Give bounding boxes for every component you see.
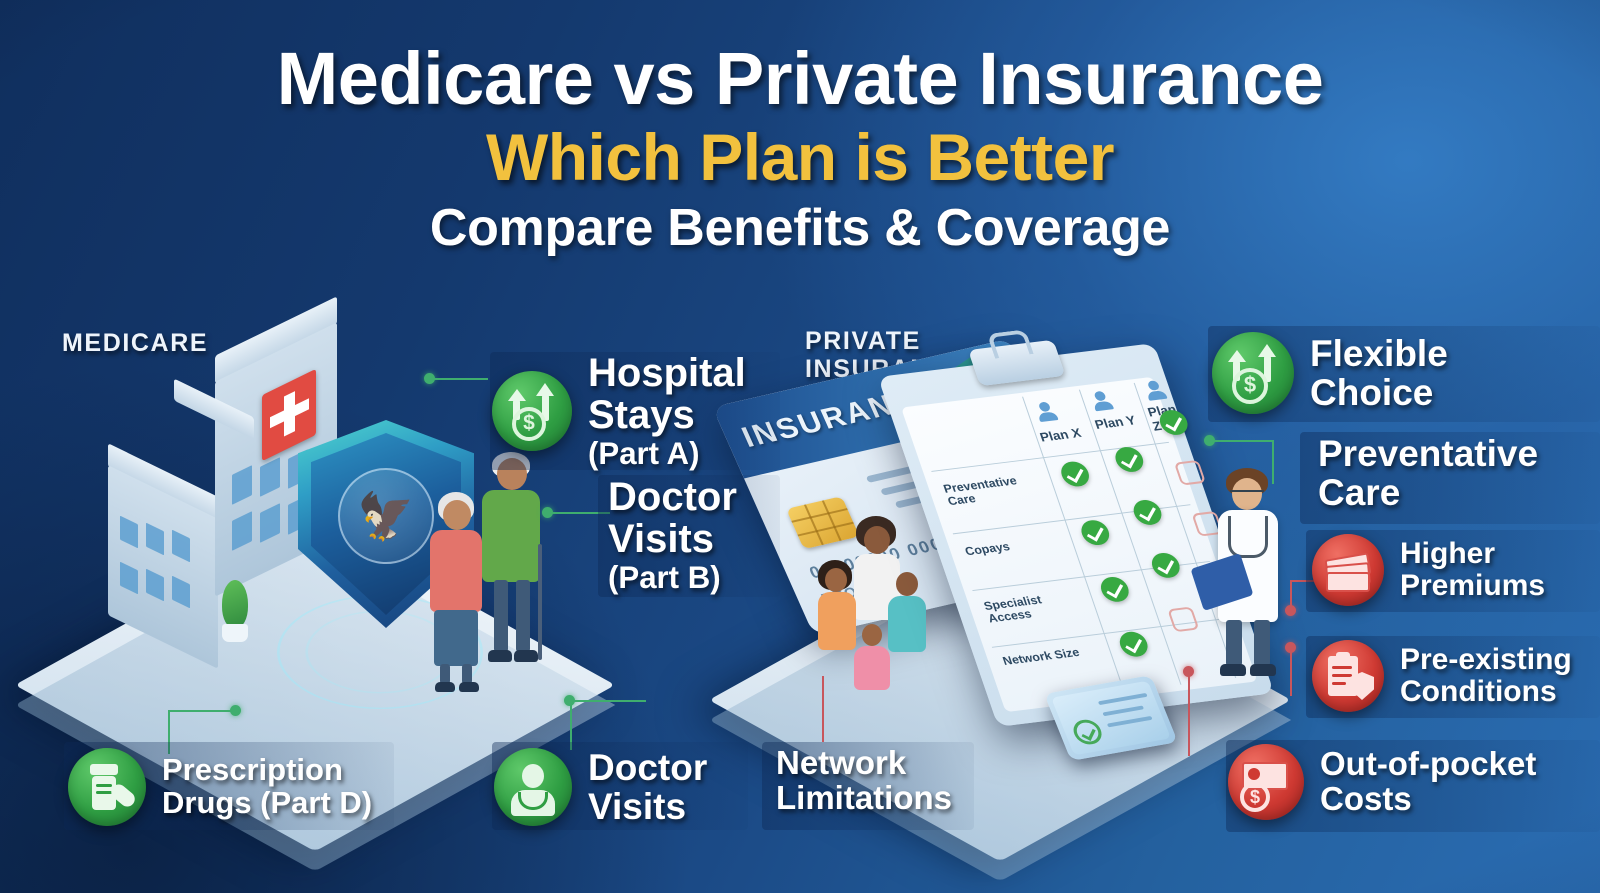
table-cell-mark xyxy=(1116,630,1151,658)
feature-out-of-pocket-costs[interactable]: $ Out-of-pocket Costs xyxy=(1228,744,1536,820)
feature-title2: Visits xyxy=(608,517,714,561)
feature-title: Out-of-pocket xyxy=(1320,745,1536,782)
table-cell-mark xyxy=(1167,607,1199,633)
table-row-label-3: Network Size xyxy=(1001,643,1107,667)
private-label-line1: PRIVATE xyxy=(805,328,968,356)
feature-title2: Choice xyxy=(1310,372,1433,413)
feature-title2: Conditions xyxy=(1400,675,1557,708)
doctor-figure xyxy=(1196,468,1316,678)
doctor-stethoscope-icon xyxy=(494,748,572,826)
feature-flexible-choice[interactable]: $ Flexible Choice xyxy=(1212,332,1448,414)
table-cell-mark xyxy=(1078,519,1113,547)
feature-title2: Drugs (Part D) xyxy=(162,785,372,820)
feature-title: Doctor xyxy=(608,475,737,519)
subtitle-accent: Which Plan is Better xyxy=(0,124,1600,190)
table-row-label-2: Specialist Access xyxy=(982,588,1092,624)
feature-prescription-drugs[interactable]: Prescription Drugs (Part D) xyxy=(68,748,372,826)
clipboard-shield-icon xyxy=(1312,640,1384,712)
feature-title: Pre-existing xyxy=(1400,643,1572,676)
table-cell-mark xyxy=(1112,446,1147,474)
feature-higher-premiums[interactable]: Higher Premiums xyxy=(1312,534,1545,606)
feature-doctor-visits[interactable]: Doctor Visits xyxy=(494,748,707,826)
banknote-dollar-icon: $ xyxy=(1228,744,1304,820)
feature-title2: Visits xyxy=(588,786,686,827)
feature-title2: Costs xyxy=(1320,780,1412,817)
feature-title: Doctor xyxy=(588,747,707,788)
plan-y-avatar-icon xyxy=(1088,390,1115,411)
main-title: Medicare vs Private Insurance xyxy=(0,42,1600,116)
plan-z-avatar-icon xyxy=(1142,380,1169,401)
table-cell-mark xyxy=(1058,460,1093,488)
feature-title: Prescription xyxy=(162,752,343,787)
feature-title: Higher xyxy=(1400,537,1495,570)
phone-check-icon xyxy=(1070,718,1106,747)
feature-title2: Care xyxy=(1318,472,1400,513)
table-header-plan-y: Plan Y xyxy=(1093,413,1138,432)
eagle-icon: 🦅 xyxy=(357,493,414,539)
dollar-up-arrows-icon: $ xyxy=(1212,332,1294,414)
stethoscope-icon xyxy=(1228,516,1268,558)
feature-sub: (Part B) xyxy=(608,561,737,594)
feature-title2: Stays xyxy=(588,393,695,437)
feature-network-limitations[interactable]: Network Limitations xyxy=(776,746,952,816)
table-row-label-1: Copays xyxy=(963,533,1069,557)
table-cell-mark xyxy=(1148,551,1183,579)
feature-title: Flexible xyxy=(1310,333,1448,374)
infographic-canvas: Medicare vs Private Insurance Which Plan… xyxy=(0,0,1600,893)
feature-preventative-care[interactable]: Preventative Care xyxy=(1318,434,1538,512)
subtitle: Compare Benefits & Coverage xyxy=(0,202,1600,254)
walking-cane xyxy=(538,544,542,660)
feature-title: Hospital xyxy=(588,351,746,395)
family-figures xyxy=(818,516,928,692)
feature-doctor-visits-part-b[interactable]: Doctor Visits (Part B) xyxy=(608,476,737,594)
feature-title2: Premiums xyxy=(1400,569,1545,602)
table-cell-mark xyxy=(1130,499,1165,527)
money-stack-icon xyxy=(1312,534,1384,606)
table-row-label-0: Preventative Care xyxy=(942,471,1052,507)
feature-preexisting-conditions[interactable]: Pre-existing Conditions xyxy=(1312,640,1572,712)
table-header-plan-x: Plan X xyxy=(1038,425,1083,444)
dollar-up-arrows-icon: $ xyxy=(492,371,572,451)
table-cell-mark xyxy=(1097,575,1132,603)
feature-title: Preventative xyxy=(1318,433,1538,474)
medicare-section-label: MEDICARE xyxy=(62,330,208,358)
network-label-line1: Network xyxy=(776,744,906,781)
elderly-man-figure xyxy=(472,452,548,672)
network-label-line2: Limitations xyxy=(776,779,952,816)
title-block: Medicare vs Private Insurance Which Plan… xyxy=(0,42,1600,254)
feature-hospital-stays[interactable]: $ Hospital Stays (Part A) xyxy=(492,352,746,470)
feature-sub: (Part A) xyxy=(588,437,746,470)
pill-bottle-icon xyxy=(68,748,146,826)
plan-x-avatar-icon xyxy=(1033,401,1060,422)
